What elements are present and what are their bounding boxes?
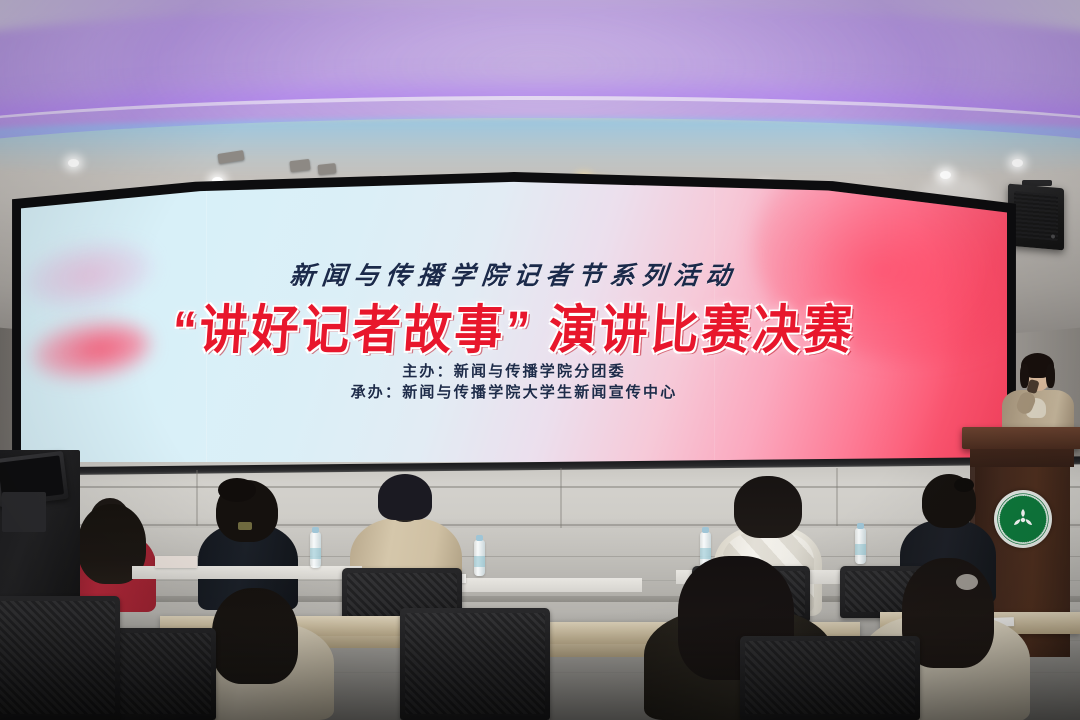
screen-organizer-block: 主办：新闻与传播学院分团委 承办：新闻与传播学院大学生新闻宣传中心 <box>14 362 1014 404</box>
paper-sheet <box>155 556 197 568</box>
chair <box>740 636 920 720</box>
speaker-grill <box>1014 191 1058 241</box>
attendee-hair-tie <box>954 478 974 492</box>
organizer-line: 主办：新闻与传播学院分团委 <box>14 362 1014 383</box>
chair <box>0 596 120 720</box>
chair <box>400 608 550 720</box>
attendee-hair-clip <box>956 574 978 590</box>
organizer-line: 承办：新闻与传播学院大学生新闻宣传中心 <box>14 383 1014 404</box>
podium-top <box>962 427 1080 449</box>
attendee-lanyard <box>238 522 252 530</box>
crest-inner-ring <box>998 494 1048 544</box>
bottle-cap <box>312 527 319 533</box>
av-equipment-box <box>2 492 46 532</box>
podium-neck <box>970 449 1074 467</box>
attendee-beanie <box>378 474 432 520</box>
bottle-label <box>474 556 485 567</box>
wall-speaker <box>1008 184 1064 251</box>
bottle-label <box>855 544 866 555</box>
screen-headline-text: “讲好记者故事” 演讲比赛决赛 <box>14 287 1014 364</box>
attendee-hair-bun <box>218 478 256 502</box>
university-crest-icon <box>994 490 1052 548</box>
track-light-fixture <box>318 163 337 175</box>
chair-mesh <box>745 641 915 714</box>
downlight <box>68 159 79 167</box>
auditorium-photo: 新闻与传播学院记者节系列活动 “讲好记者故事” 演讲比赛决赛 主办：新闻与传播学… <box>0 0 1080 720</box>
wall-panel-joint-vertical <box>560 468 562 528</box>
chair-mesh <box>405 613 545 714</box>
screen-content: 新闻与传播学院记者节系列活动 “讲好记者故事” 演讲比赛决赛 主办：新闻与传播学… <box>14 172 1014 470</box>
led-screen: 新闻与传播学院记者节系列活动 “讲好记者故事” 演讲比赛决赛 主办：新闻与传播学… <box>14 172 1014 470</box>
bottle-cap <box>476 535 483 541</box>
soffit-blue-glow <box>0 118 1080 178</box>
bottle-cap <box>857 523 864 529</box>
bottle-cap <box>702 527 709 533</box>
attendee-hair <box>734 476 802 538</box>
chair-mesh <box>0 601 115 714</box>
downlight <box>1012 159 1023 167</box>
attendee-hair <box>212 588 298 684</box>
water-bottle <box>474 540 485 576</box>
water-bottle <box>310 532 321 568</box>
speaker-bolt <box>1051 234 1055 238</box>
crest-trefoil-mark <box>1010 507 1036 531</box>
bottle-label <box>310 548 321 559</box>
speaker-hair-side <box>1046 364 1055 388</box>
wall-panel-joint-vertical <box>836 468 838 526</box>
